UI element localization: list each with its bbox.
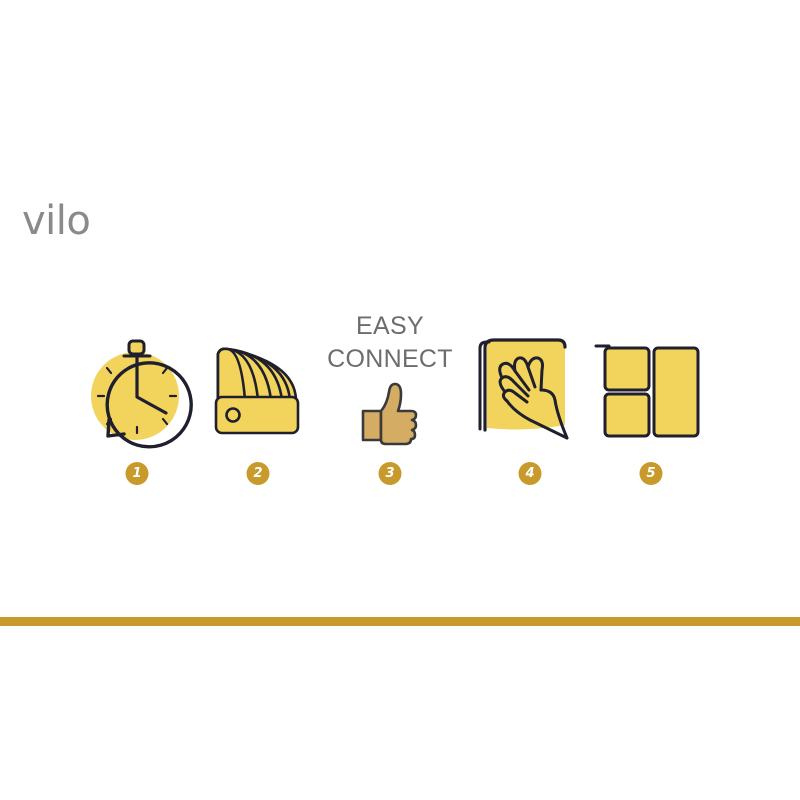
brand-logo-text: vilo xyxy=(22,198,122,244)
step-badge-5: 5 xyxy=(640,462,663,485)
panel-layout-tiles-icon xyxy=(576,300,726,455)
feature-icon-row: 1 2 EA xyxy=(0,300,800,500)
feature-item-2: 2 xyxy=(183,300,333,500)
step-badge-3: 3 xyxy=(379,462,402,485)
step-badge-4: 4 xyxy=(519,462,542,485)
color-swatch-fan-icon xyxy=(183,300,333,455)
feature-item-5: 5 xyxy=(576,300,726,500)
step-badge-2: 2 xyxy=(247,462,270,485)
bottom-gold-rule xyxy=(0,617,800,626)
thumbs-up-icon xyxy=(315,318,465,473)
brand-logo: vilo xyxy=(22,198,122,244)
step-badge-1: 1 xyxy=(126,462,149,485)
feature-item-3: EASY CONNECT 3 xyxy=(315,300,465,500)
